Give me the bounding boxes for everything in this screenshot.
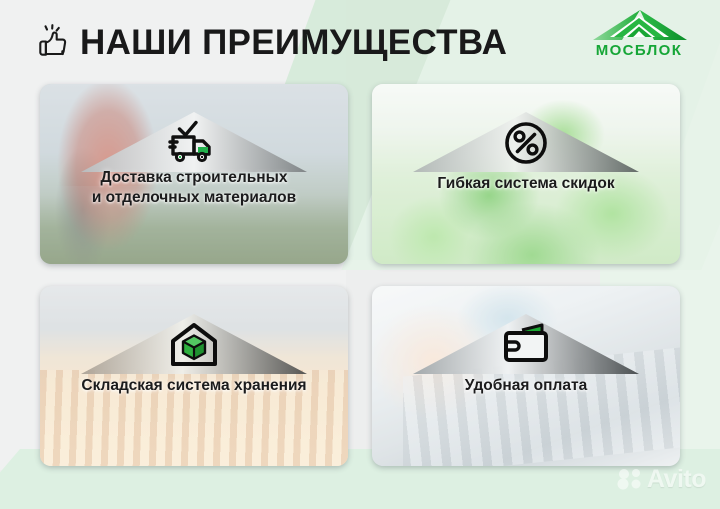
benefit-card-label: Складская система хранения: [40, 376, 348, 396]
avito-dots-icon: [617, 468, 643, 490]
percent-circle-icon: [499, 116, 553, 170]
avito-watermark: Avito: [617, 465, 706, 493]
thumbs-up-icon: [33, 22, 73, 62]
benefit-card-delivery[interactable]: Доставка строительных и отделочных матер…: [40, 84, 348, 264]
brand-logo: МОСБЛОК: [580, 9, 698, 65]
benefit-card-label: Доставка строительных и отделочных матер…: [40, 168, 348, 208]
mosblok-logo-mark-icon: [592, 9, 688, 43]
advertisement-banner: НАШИ ПРЕИМУЩЕСТВА: [0, 0, 720, 509]
warehouse-box-icon: [167, 318, 221, 372]
benefit-card-discounts[interactable]: Гибкая система скидок: [372, 84, 680, 264]
delivery-truck-icon: [167, 116, 221, 170]
banner-header: НАШИ ПРЕИМУЩЕСТВА: [0, 0, 720, 78]
benefit-card-payment[interactable]: Удобная оплата: [372, 286, 680, 466]
page-title: НАШИ ПРЕИМУЩЕСТВА: [80, 21, 507, 65]
avito-wordmark: Avito: [647, 467, 706, 492]
benefit-card-storage[interactable]: Складская система хранения: [40, 286, 348, 466]
wallet-icon: [499, 318, 553, 372]
benefits-grid: Доставка строительных и отделочных матер…: [40, 84, 680, 466]
benefit-card-label: Гибкая система скидок: [372, 174, 680, 194]
benefit-card-label: Удобная оплата: [372, 376, 680, 396]
brand-name: МОСБЛОК: [580, 42, 698, 59]
